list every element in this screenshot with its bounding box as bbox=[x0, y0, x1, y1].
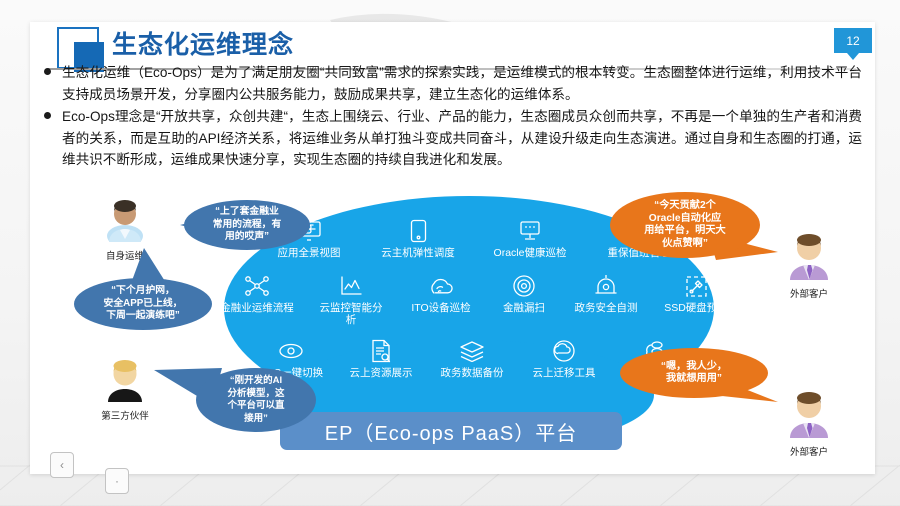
ssd-disk-alert-icon bbox=[653, 273, 739, 299]
capability-label: 政务安全自测 bbox=[563, 302, 649, 314]
capability-label: 应用全景视图 bbox=[266, 247, 352, 259]
capability-item[interactable]: SSD硬盘预警 bbox=[653, 273, 739, 314]
page-number-badge: 12 bbox=[834, 28, 872, 53]
bubble-customer-bottom: “嗯，我人少， 我就想用用” bbox=[620, 348, 768, 398]
capability-item[interactable]: Oracle健康巡检 bbox=[484, 218, 576, 259]
capability-label: 云主机弹性调度 bbox=[372, 247, 464, 259]
capability-label: 政务数据备份 bbox=[429, 367, 515, 379]
person-glyph-icon bbox=[783, 390, 835, 438]
bubble-self-ops-2: “下个月护网， 安全APP已上线， 下周一起演练吧” bbox=[74, 278, 212, 330]
bullet-text: Eco-Ops理念是“开放共享，众创共建“，生态上围绕云、行业、产品的能力，生态… bbox=[62, 109, 862, 167]
oracle-health-check-icon bbox=[484, 218, 576, 244]
capability-label: 云上资源展示 bbox=[339, 367, 423, 379]
self-ops-avatar: 自身运维 bbox=[88, 198, 162, 262]
rac-switch-icon bbox=[249, 338, 333, 364]
finance-ops-flow-icon bbox=[209, 273, 305, 299]
capability-item[interactable]: 政务数据备份 bbox=[429, 338, 515, 379]
bubble-customer-top: “今天贡献2个 Oracle自动化应 用给平台，明天大 伙点赞啊” bbox=[610, 192, 760, 258]
avatar-caption: 自身运维 bbox=[88, 248, 162, 262]
capability-label: 金融漏扫 bbox=[489, 302, 559, 314]
bubble-partner: “刚开发的AI 分析模型，这 个平台可以直 接用” bbox=[196, 368, 316, 432]
capability-label: SSD硬盘预警 bbox=[653, 302, 739, 314]
capability-row: 金融业运维流程 云监控智能分 析 bbox=[176, 273, 772, 326]
external-customer-avatar-bottom: 外部客户 bbox=[772, 390, 846, 458]
cloud-host-scheduling-icon bbox=[372, 218, 464, 244]
capability-item[interactable]: ITO设备巡检 bbox=[397, 273, 485, 314]
avatar-caption: 外部客户 bbox=[772, 286, 846, 300]
bullet-dot-icon bbox=[44, 68, 51, 75]
cloud-monitor-analysis-icon bbox=[309, 273, 393, 299]
external-customer-avatar-top: 外部客户 bbox=[772, 232, 846, 300]
capability-item[interactable]: 云上资源展示 bbox=[339, 338, 423, 379]
capability-label: ITO设备巡检 bbox=[397, 302, 485, 314]
bullet-dot-icon bbox=[44, 112, 51, 119]
capability-item[interactable]: 云主机弹性调度 bbox=[372, 218, 464, 259]
bullet-text: 生态化运维（Eco-Ops）是为了满足朋友圈“共同致富”需求的探索实践，是运维模… bbox=[62, 65, 862, 102]
gov-security-selftest-icon bbox=[563, 273, 649, 299]
capability-item[interactable]: 云监控智能分 析 bbox=[309, 273, 393, 326]
prev-slide-button[interactable]: ‹ bbox=[50, 452, 74, 478]
platform-banner[interactable]: EP（Eco-ops PaaS）平台 bbox=[280, 412, 622, 450]
person-glyph-icon bbox=[100, 198, 150, 242]
bullet-list: 生态化运维（Eco-Ops）是为了满足朋友圈“共同致富”需求的探索实践，是运维模… bbox=[42, 62, 862, 172]
ito-device-inspection-icon bbox=[397, 273, 485, 299]
bullet-item: Eco-Ops理念是“开放共享，众创共建“，生态上围绕云、行业、产品的能力，生态… bbox=[42, 106, 862, 171]
bubble-self-ops-1: “上了套金融业 常用的流程，有 用的哎声” bbox=[184, 200, 310, 250]
cloud-resource-display-icon bbox=[339, 338, 423, 364]
capability-item[interactable]: 政务安全自测 bbox=[563, 273, 649, 314]
capability-label: 金融业运维流程 bbox=[209, 302, 305, 314]
capability-item[interactable]: 云上迁移工具 bbox=[521, 338, 607, 379]
gov-data-backup-icon bbox=[429, 338, 515, 364]
capability-label: 云上迁移工具 bbox=[521, 367, 607, 379]
bullet-item: 生态化运维（Eco-Ops）是为了满足朋友圈“共同致富”需求的探索实践，是运维模… bbox=[42, 62, 862, 105]
cloud-migration-tool-icon bbox=[521, 338, 607, 364]
avatar-caption: 外部客户 bbox=[772, 444, 846, 458]
capability-label: Oracle健康巡检 bbox=[484, 247, 576, 259]
ecosystem-diagram: 应用全景视图 云主机弹性调度 bbox=[72, 190, 832, 455]
next-slide-button[interactable]: · bbox=[105, 468, 129, 494]
third-party-partner-avatar: 第三方伙伴 bbox=[88, 358, 162, 422]
person-glyph-icon bbox=[783, 232, 835, 280]
slide-canvas: 生态化运维理念 12 生态化运维（Eco-Ops）是为了满足朋友圈“共同致富”需… bbox=[0, 0, 900, 506]
capability-label: 云监控智能分 析 bbox=[309, 302, 393, 326]
avatar-caption: 第三方伙伴 bbox=[88, 408, 162, 422]
person-glyph-icon bbox=[100, 358, 150, 402]
capability-item[interactable]: 金融漏扫 bbox=[489, 273, 559, 314]
page-title: 生态化运维理念 bbox=[112, 25, 294, 61]
finance-vuln-scan-icon bbox=[489, 273, 559, 299]
capability-item[interactable]: 金融业运维流程 bbox=[209, 273, 305, 314]
